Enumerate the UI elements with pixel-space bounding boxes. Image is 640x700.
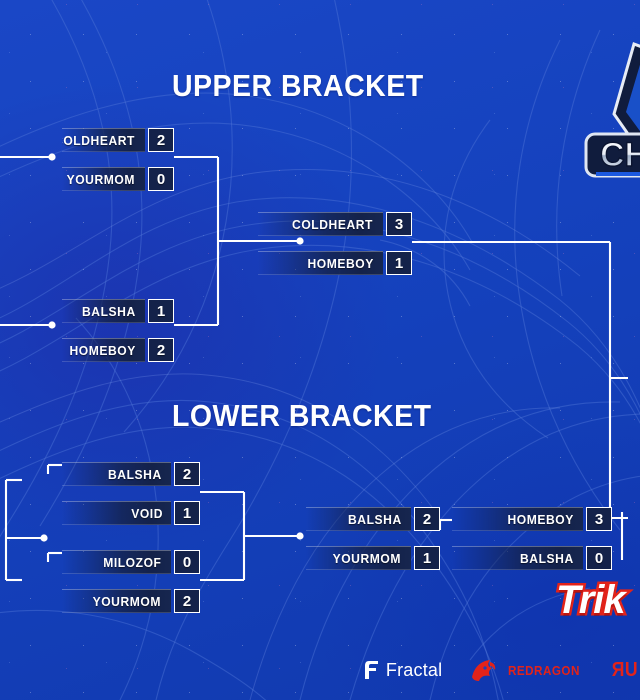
match-card-team[interactable]: YOURMOM 0 <box>62 167 174 191</box>
team-plate: YOURMOM <box>306 546 411 570</box>
lower-bracket-heading: LOWER BRACKET <box>172 398 431 434</box>
team-score: 1 <box>148 299 174 323</box>
match-card-team[interactable]: YOURMOM 1 <box>306 546 440 570</box>
team-plate: BALSHA <box>452 546 583 570</box>
team-score: 1 <box>414 546 440 570</box>
team-score: 2 <box>414 507 440 531</box>
fractal-f-icon <box>364 660 380 680</box>
match-card-team[interactable]: BALSHA 2 <box>62 462 200 486</box>
team-score: 0 <box>586 546 612 570</box>
team-name: YOURMOM <box>93 594 161 609</box>
match-card-team[interactable]: BALSHA 2 <box>306 507 440 531</box>
match-card-team[interactable]: HOMEBOY 2 <box>62 338 174 362</box>
team-plate: HOMEBOY <box>258 251 383 275</box>
team-plate: HOMEBOY <box>62 338 145 362</box>
sponsor-third: ЯU <box>610 659 640 682</box>
match-card-team[interactable]: COLDHEART 3 <box>258 212 412 236</box>
team-score: 3 <box>386 212 412 236</box>
team-name: COLDHEART <box>62 133 135 148</box>
sponsor-redragon: REDRAGON <box>468 657 584 683</box>
team-plate: BALSHA <box>306 507 411 531</box>
match-card-team[interactable]: BALSHA 0 <box>452 546 612 570</box>
team-name: HOMEBOY <box>69 343 135 358</box>
sponsor-bar: Fractal REDRAGON ЯU <box>0 648 640 692</box>
upper-bracket-heading: UPPER BRACKET <box>172 68 424 104</box>
team-score: 2 <box>174 589 200 613</box>
team-score: 0 <box>148 167 174 191</box>
bracket-stage: UPPER BRACKET LOWER BRACKET COLDHEART 2 … <box>0 0 640 700</box>
team-name: COLDHEART <box>292 217 373 232</box>
match-card-team[interactable]: YOURMOM 2 <box>62 589 200 613</box>
match-card-team[interactable]: COLDHEART 2 <box>62 128 174 152</box>
team-score: 3 <box>586 507 612 531</box>
sponsor-fractal: Fractal <box>364 660 442 681</box>
team-score: 2 <box>174 462 200 486</box>
team-name: YOURMOM <box>333 551 401 566</box>
team-plate: COLDHEART <box>62 128 145 152</box>
team-name: BALSHA <box>520 551 574 566</box>
team-plate: COLDHEART <box>258 212 383 236</box>
team-score: 1 <box>174 501 200 525</box>
team-name: BALSHA <box>348 512 402 527</box>
team-name: VOID <box>131 506 163 521</box>
team-plate: YOURMOM <box>62 589 171 613</box>
team-plate: VOID <box>62 501 171 525</box>
team-plate: YOURMOM <box>62 167 145 191</box>
team-score: 2 <box>148 338 174 362</box>
team-score: 0 <box>174 550 200 574</box>
match-card-team[interactable]: HOMEBOY 3 <box>452 507 612 531</box>
team-name: HOMEBOY <box>307 256 373 271</box>
dragon-head-icon <box>468 657 498 687</box>
sponsor-third-label: ЯU <box>612 659 638 682</box>
team-name: BALSHA <box>108 467 162 482</box>
match-card-team[interactable]: VOID 1 <box>62 501 200 525</box>
team-name: BALSHA <box>82 304 136 319</box>
team-plate: MILOZOF <box>62 550 171 574</box>
sponsor-fractal-label: Fractal <box>386 660 442 681</box>
team-name: YOURMOM <box>67 172 135 187</box>
match-card-team[interactable]: BALSHA 1 <box>62 299 174 323</box>
team-name: HOMEBOY <box>507 512 573 527</box>
team-plate: BALSHA <box>62 462 171 486</box>
sponsor-redragon-label: REDRAGON <box>508 663 580 678</box>
team-score: 2 <box>148 128 174 152</box>
team-plate: HOMEBOY <box>452 507 583 531</box>
match-card-team[interactable]: HOMEBOY 1 <box>258 251 412 275</box>
team-score: 1 <box>386 251 412 275</box>
match-card-team[interactable]: MILOZOF 0 <box>62 550 200 574</box>
team-name: MILOZOF <box>104 555 162 570</box>
team-plate: BALSHA <box>62 299 145 323</box>
